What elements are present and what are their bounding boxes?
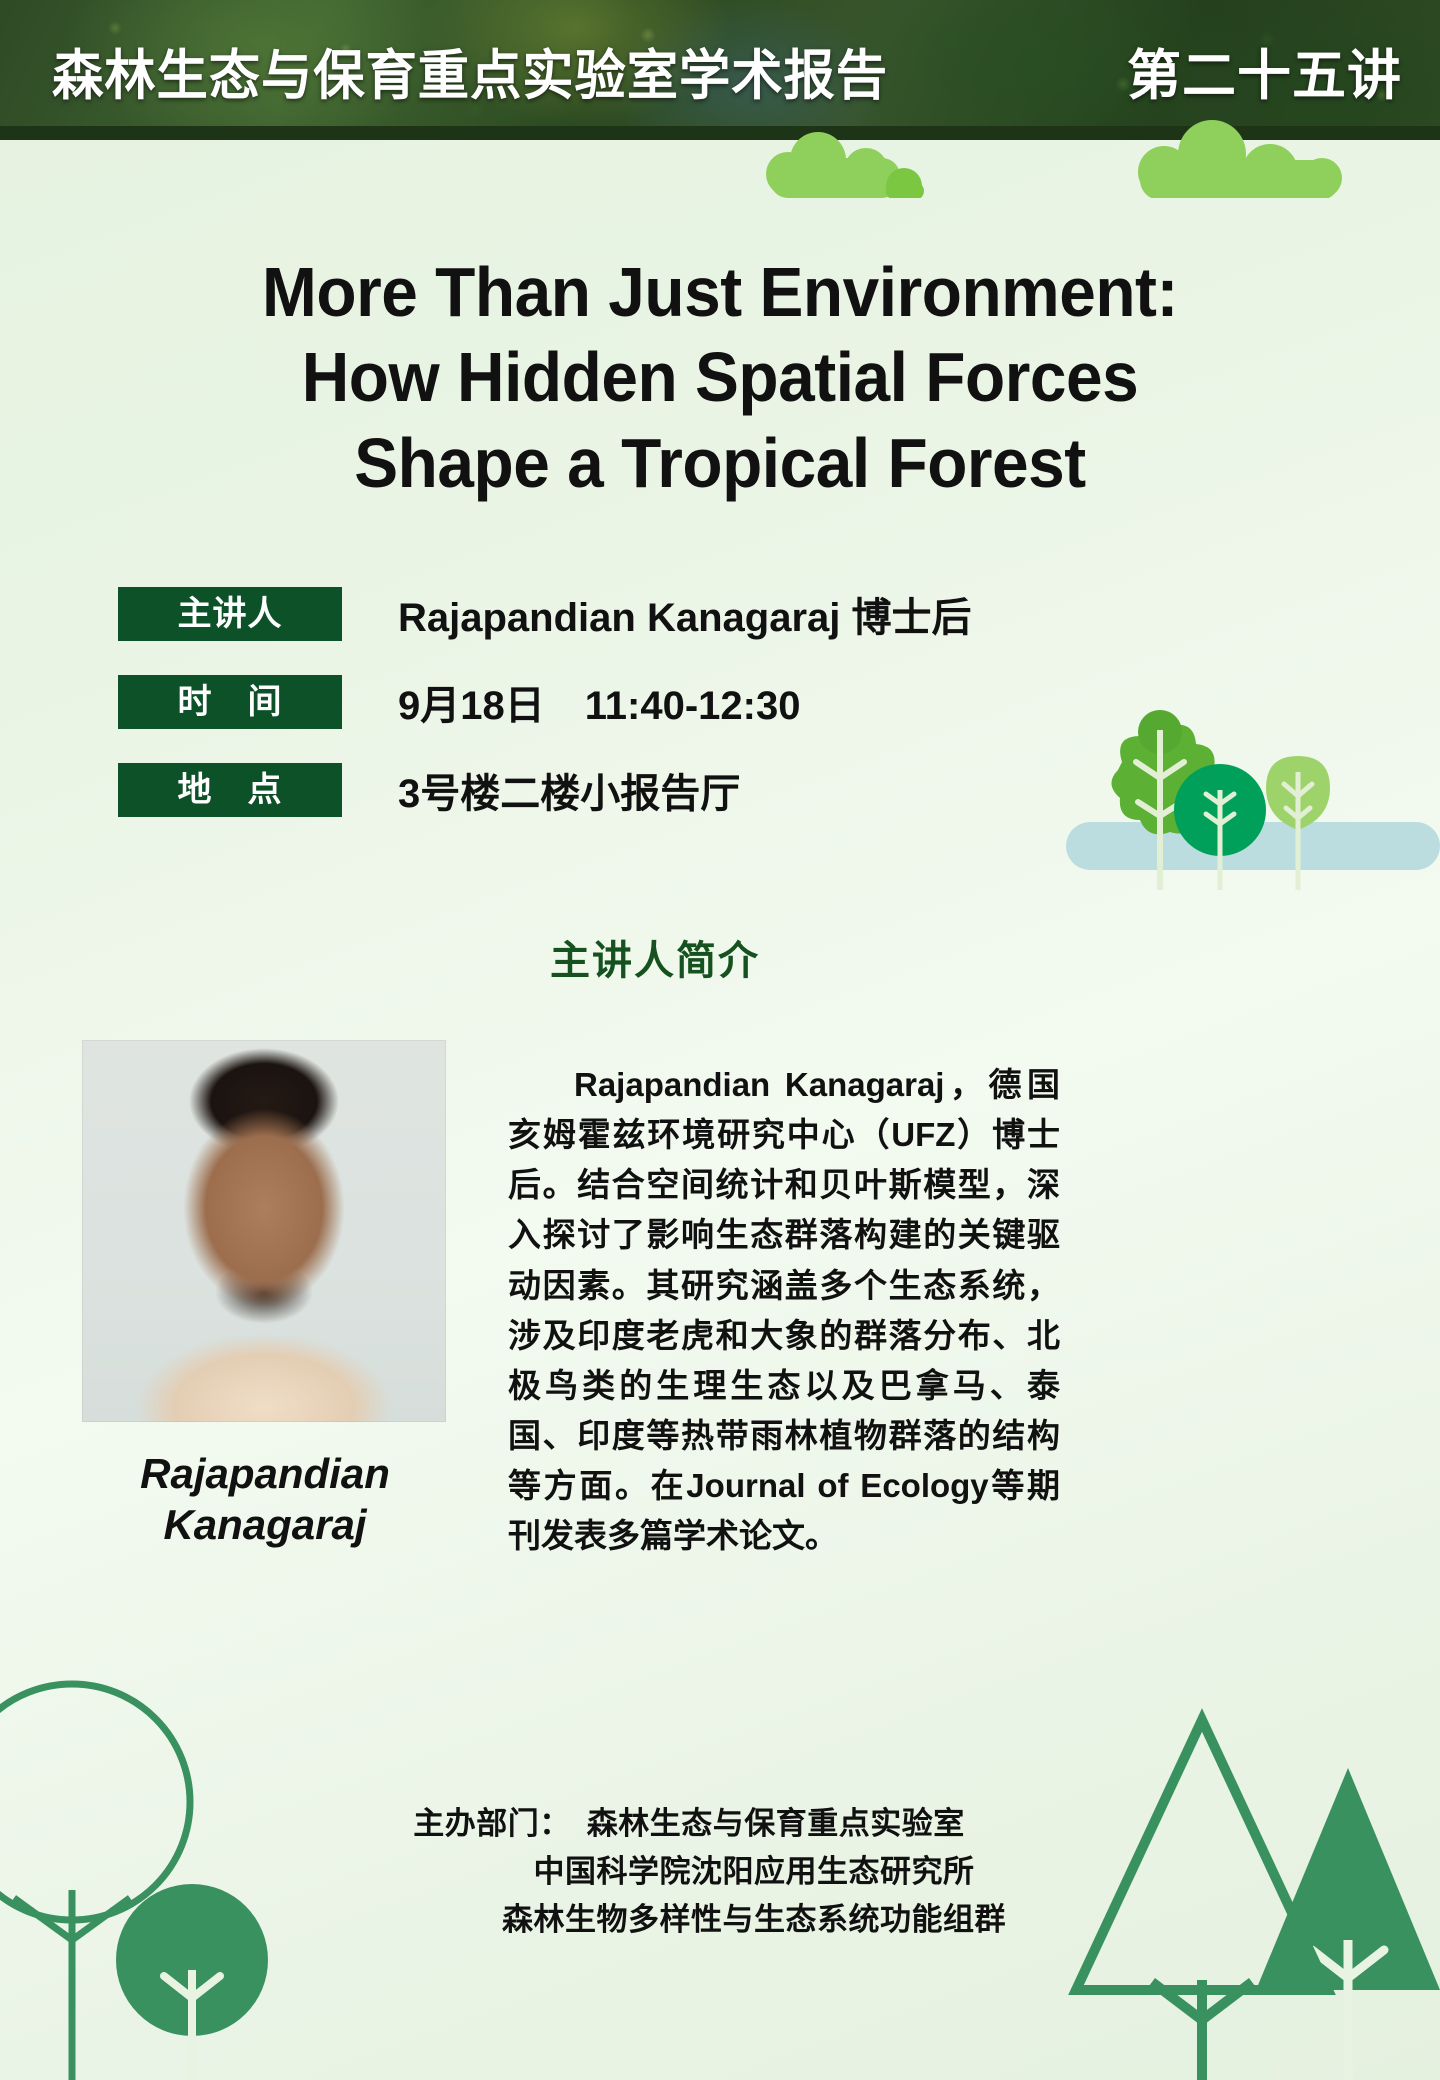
header-text-row: 森林生态与保育重点实验室学术报告 第二十五讲	[0, 0, 1440, 140]
info-label-time: 时 间	[118, 675, 342, 729]
event-info-block: 主讲人 Rajapandian Kanagaraj 博士后 时 间 9月18日 …	[118, 585, 971, 849]
info-value-location: 3号楼二楼小报告厅	[398, 761, 740, 819]
speaker-portrait	[82, 1040, 446, 1422]
info-row-time: 时 间 9月18日 11:40-12:30	[118, 673, 971, 731]
banner-title: 森林生态与保育重点实验室学术报告	[52, 31, 888, 110]
speaker-caption-line-1: Rajapandian	[140, 1450, 390, 1497]
info-row-speaker: 主讲人 Rajapandian Kanagaraj 博士后	[118, 585, 971, 643]
title-line-3: Shape a Tropical Forest	[43, 421, 1397, 506]
speaker-bio-paragraph: Rajapandian Kanagaraj，德国亥姆霍兹环境研究中心（UFZ）博…	[508, 1060, 1060, 1562]
page-title: More Than Just Environment: How Hidden S…	[0, 250, 1440, 506]
info-label-location: 地 点	[118, 763, 342, 817]
title-line-1: More Than Just Environment:	[43, 250, 1397, 335]
speaker-caption-line-2: Kanagaraj	[163, 1501, 366, 1548]
info-label-speaker: 主讲人	[118, 587, 342, 641]
info-value-speaker: Rajapandian Kanagaraj 博士后	[398, 585, 971, 643]
footer-line-3: 森林生物多样性与生态系统功能组群	[68, 1896, 1440, 1944]
bush-icon	[766, 132, 900, 198]
side-tree-illustration	[1040, 700, 1440, 890]
footer-organizers: 主办部门： 森林生态与保育重点实验室 中国科学院沈阳应用生态研究所 森林生物多样…	[0, 1800, 1440, 1944]
banner-session-number: 第二十五讲	[1127, 31, 1402, 110]
bio-section-heading: 主讲人简介	[0, 928, 1440, 986]
info-value-time: 9月18日 11:40-12:30	[398, 673, 800, 731]
speaker-name-caption: Rajapandian Kanagaraj	[40, 1448, 490, 1550]
seminar-poster: 森林生态与保育重点实验室学术报告 第二十五讲	[0, 0, 1440, 2080]
footer-line-1: 主办部门： 森林生态与保育重点实验室	[0, 1800, 1440, 1848]
info-row-location: 地 点 3号楼二楼小报告厅	[118, 761, 971, 819]
title-line-2: How Hidden Spatial Forces	[43, 335, 1397, 420]
tree-icon-small	[1174, 764, 1266, 890]
footer-line-2: 中国科学院沈阳应用生态研究所	[68, 1848, 1440, 1896]
speaker-photo-image	[82, 1040, 446, 1422]
